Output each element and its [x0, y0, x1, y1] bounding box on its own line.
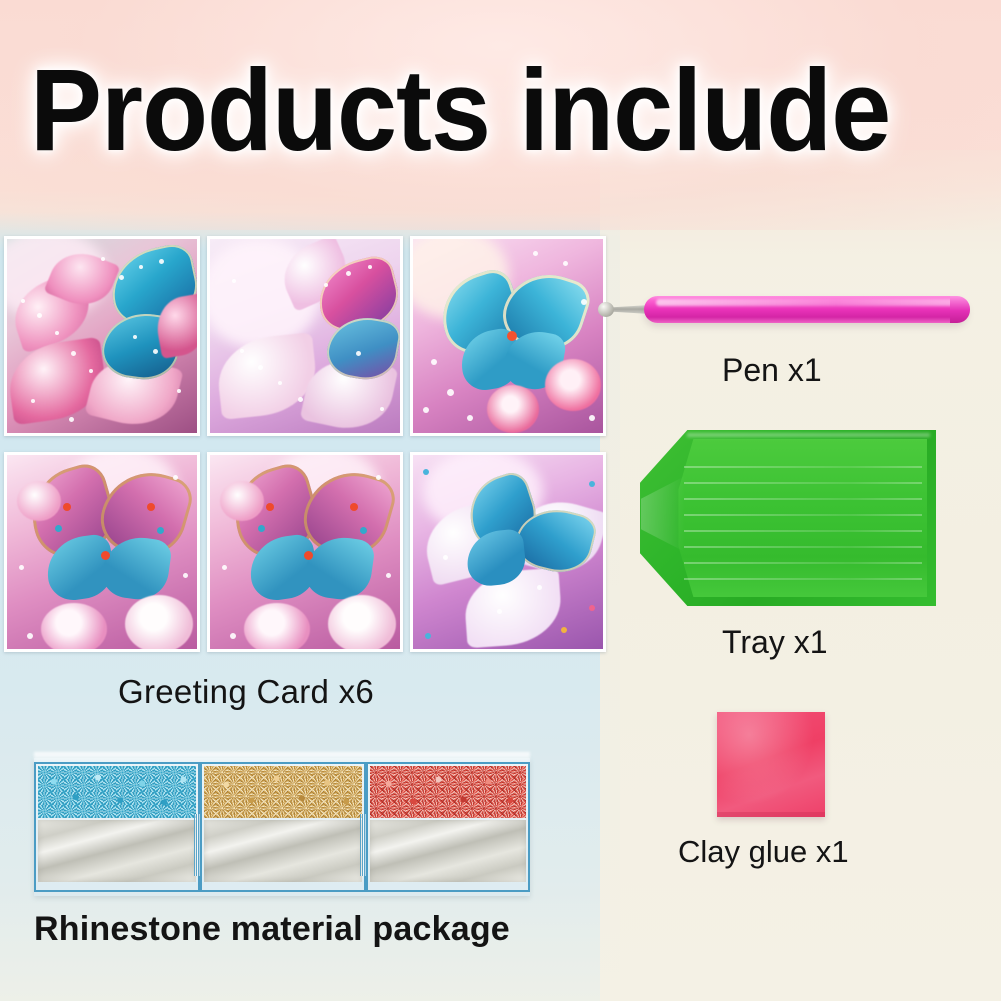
tray-ridge: [684, 498, 922, 500]
bag-3-stones: [370, 766, 526, 818]
card-3-artwork: [413, 239, 603, 433]
pen-label: Pen x1: [722, 352, 822, 389]
rhinestone-bag-3: [366, 762, 530, 892]
greeting-card-2: [207, 236, 403, 436]
greeting-card-label: Greeting Card x6: [118, 673, 374, 711]
card-1-artwork: [7, 239, 197, 433]
tray-ridge: [684, 466, 922, 468]
pen-ferrule: [598, 302, 614, 317]
clay-glue-bottom-edge: [717, 812, 825, 817]
tray-ridge: [684, 546, 922, 548]
rhinestone-material-package: [34, 758, 530, 896]
greeting-card-grid: [4, 236, 612, 656]
bag-2-foil: [204, 820, 362, 882]
rhinestone-bag-2: [200, 762, 366, 892]
card-2-artwork: [210, 239, 400, 433]
tray-label: Tray x1: [722, 624, 828, 661]
tray-top-edge-highlight: [687, 433, 930, 437]
pen-cap: [950, 296, 970, 323]
bag-3-foil: [370, 820, 526, 882]
rhinestone-bag-1: [34, 762, 200, 892]
tray-ridge: [684, 530, 922, 532]
pen-highlight: [656, 299, 956, 306]
clay-glue-label: Clay glue x1: [678, 834, 849, 870]
card-4-artwork: [7, 455, 197, 649]
greeting-card-6: [410, 452, 606, 652]
tray-ridge: [684, 562, 922, 564]
tray-ridge: [684, 578, 922, 580]
greeting-card-5: [207, 452, 403, 652]
greeting-card-1: [4, 236, 200, 436]
card-5-artwork: [210, 455, 400, 649]
rhinestone-package-label: Rhinestone material package: [34, 910, 510, 949]
card-6-artwork: [413, 455, 603, 649]
page-title: Products include: [30, 52, 914, 168]
tray-ridge: [684, 482, 922, 484]
diamond-painting-pen: [598, 288, 978, 344]
greeting-card-4: [4, 452, 200, 652]
bag-1-foil: [38, 820, 196, 882]
rhinestone-tray: [640, 430, 936, 606]
bag-2-stones: [204, 766, 362, 818]
tray-ridge: [684, 514, 922, 516]
greeting-card-3: [410, 236, 606, 436]
tray-inner-basin: [678, 439, 927, 597]
product-include-infographic: Products include: [0, 0, 1001, 1001]
card-1-rhinestones: [7, 239, 197, 433]
bag-1-stones: [38, 766, 196, 818]
clay-glue-highlight: [717, 712, 825, 817]
clay-glue-block: [717, 712, 825, 817]
